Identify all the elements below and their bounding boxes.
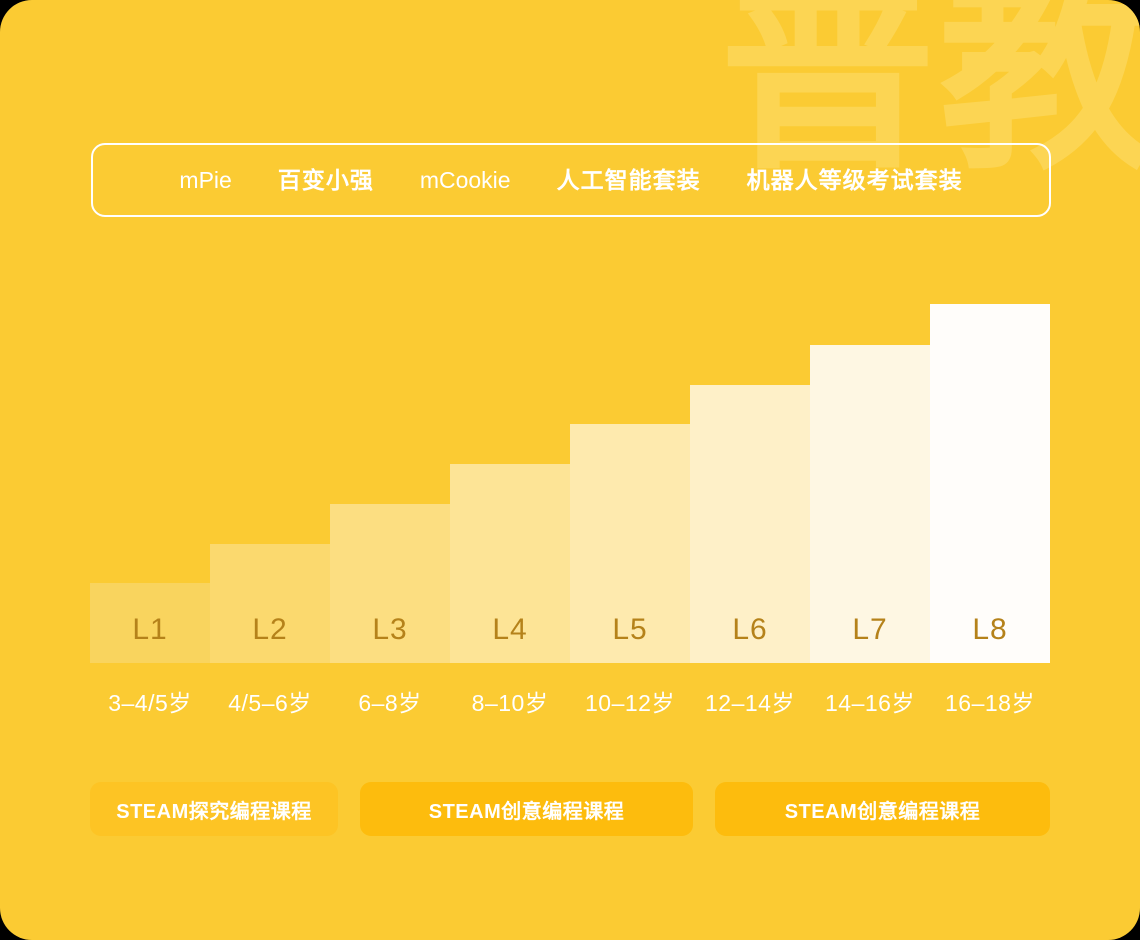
bar-label: L5: [612, 615, 647, 645]
bar-l3[interactable]: L3: [330, 504, 450, 663]
product-nav-bar: mPie百变小强mCookie人工智能套装机器人等级考试套装: [91, 143, 1051, 217]
age-label-3: 6–8岁: [330, 663, 450, 743]
bar-label: L2: [252, 615, 287, 645]
nav-item-4[interactable]: 人工智能套装: [534, 169, 724, 192]
nav-item-3[interactable]: mCookie: [397, 169, 534, 192]
course-button-3[interactable]: STEAM创意编程课程: [715, 782, 1050, 836]
bar-l1[interactable]: L1: [90, 583, 210, 663]
age-label-4: 8–10岁: [450, 663, 570, 743]
age-label-5: 10–12岁: [570, 663, 690, 743]
bar-label: L6: [732, 615, 767, 645]
bar-l4[interactable]: L4: [450, 464, 570, 663]
nav-item-1[interactable]: mPie: [156, 169, 254, 192]
bar-label: L7: [852, 615, 887, 645]
bar-label: L8: [972, 615, 1007, 645]
course-level-card: 普教 mPie百变小强mCookie人工智能套装机器人等级考试套装 L1L2L3…: [0, 0, 1140, 940]
nav-item-2[interactable]: 百变小强: [255, 169, 397, 192]
bar-l8[interactable]: L8: [930, 304, 1050, 663]
age-label-6: 12–14岁: [690, 663, 810, 743]
age-range-axis: 3–4/5岁4/5–6岁6–8岁8–10岁10–12岁12–14岁14–16岁1…: [90, 663, 1050, 743]
age-label-8: 16–18岁: [930, 663, 1050, 743]
age-label-1: 3–4/5岁: [90, 663, 210, 743]
bar-l7[interactable]: L7: [810, 345, 930, 663]
course-button-row: STEAM探究编程课程STEAM创意编程课程STEAM创意编程课程: [90, 782, 1050, 836]
age-label-2: 4/5–6岁: [210, 663, 330, 743]
bar-label: L4: [492, 615, 527, 645]
nav-item-5[interactable]: 机器人等级考试套装: [724, 169, 986, 192]
bar-label: L3: [372, 615, 407, 645]
course-button-2[interactable]: STEAM创意编程课程: [360, 782, 693, 836]
bar-label: L1: [132, 615, 167, 645]
level-bar-chart: L1L2L3L4L5L6L7L8: [90, 280, 1050, 663]
bar-l6[interactable]: L6: [690, 385, 810, 663]
bar-l2[interactable]: L2: [210, 544, 330, 663]
age-label-7: 14–16岁: [810, 663, 930, 743]
course-button-1[interactable]: STEAM探究编程课程: [90, 782, 338, 836]
bar-l5[interactable]: L5: [570, 424, 690, 663]
